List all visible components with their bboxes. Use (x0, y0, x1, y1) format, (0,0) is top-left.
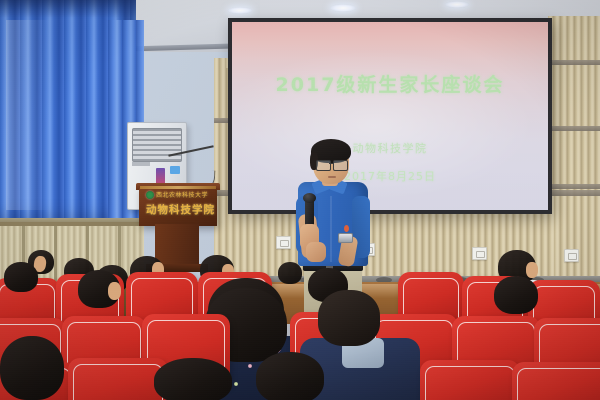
panel-divider (548, 126, 600, 131)
podium-university-name: 西北农林科技大学 (156, 190, 208, 199)
audience-head (4, 262, 38, 292)
podium-college-name: 动物科技学院 (146, 202, 215, 217)
audience-face (526, 262, 538, 278)
microphone-head-icon (303, 193, 316, 203)
air-conditioner-label (132, 162, 150, 166)
auditorium-seat[interactable] (420, 360, 520, 400)
wall-outlet-icon[interactable] (472, 247, 487, 260)
podium-gold-trim (140, 186, 216, 189)
slide-title: 2017级新生家长座谈会 (232, 70, 548, 97)
wall-outlet-icon[interactable] (564, 249, 579, 262)
panel-divider (548, 184, 600, 189)
eyeglasses-bridge (329, 163, 333, 164)
audience-head (278, 262, 302, 284)
audience-head (256, 352, 324, 400)
air-conditioner-display (156, 168, 165, 184)
audience-head (0, 336, 64, 400)
polo-shirt-logo-icon (344, 225, 349, 232)
eyeglasses-icon (333, 160, 348, 171)
air-conditioner-button[interactable] (170, 166, 180, 174)
university-crest-emblem-icon (146, 191, 154, 199)
projection-screen: 2017级新生家长座谈会 动物科技学院 2017年8月25日 (232, 22, 548, 210)
wristwatch-icon (338, 233, 353, 243)
audience-head (154, 358, 232, 400)
auditorium-seat[interactable] (68, 358, 168, 400)
auditorium-seat[interactable] (512, 362, 600, 400)
audience-head (494, 276, 538, 314)
wall-outlet-icon[interactable] (276, 236, 291, 249)
ceiling-downlight-icon (228, 7, 252, 14)
wood-slat-wall-panel-right (548, 16, 600, 284)
speaker-shirt-fold (330, 196, 332, 262)
speaker-mouth (328, 176, 336, 178)
curtain-shadow-top (0, 0, 136, 18)
ceiling-downlight-icon (330, 4, 356, 12)
air-conditioner-grille-icon (132, 128, 182, 162)
auditorium-photo: 西北农林科技大学 动物科技学院 2017级新生家长座谈会 动物科技学院 2017… (0, 0, 600, 400)
audience-head (318, 290, 380, 346)
slide-subtitle-date: 2017年8月25日 (232, 168, 548, 184)
ceiling-downlight-icon (445, 1, 469, 8)
radiator-divider (54, 226, 57, 282)
panel-divider (548, 60, 600, 65)
curtain-highlight (6, 20, 52, 210)
audience-face (108, 282, 121, 300)
slide-subtitle-organization: 动物科技学院 (232, 140, 548, 156)
eyeglasses-icon (316, 160, 331, 171)
speaker-hand-lower (306, 242, 326, 262)
